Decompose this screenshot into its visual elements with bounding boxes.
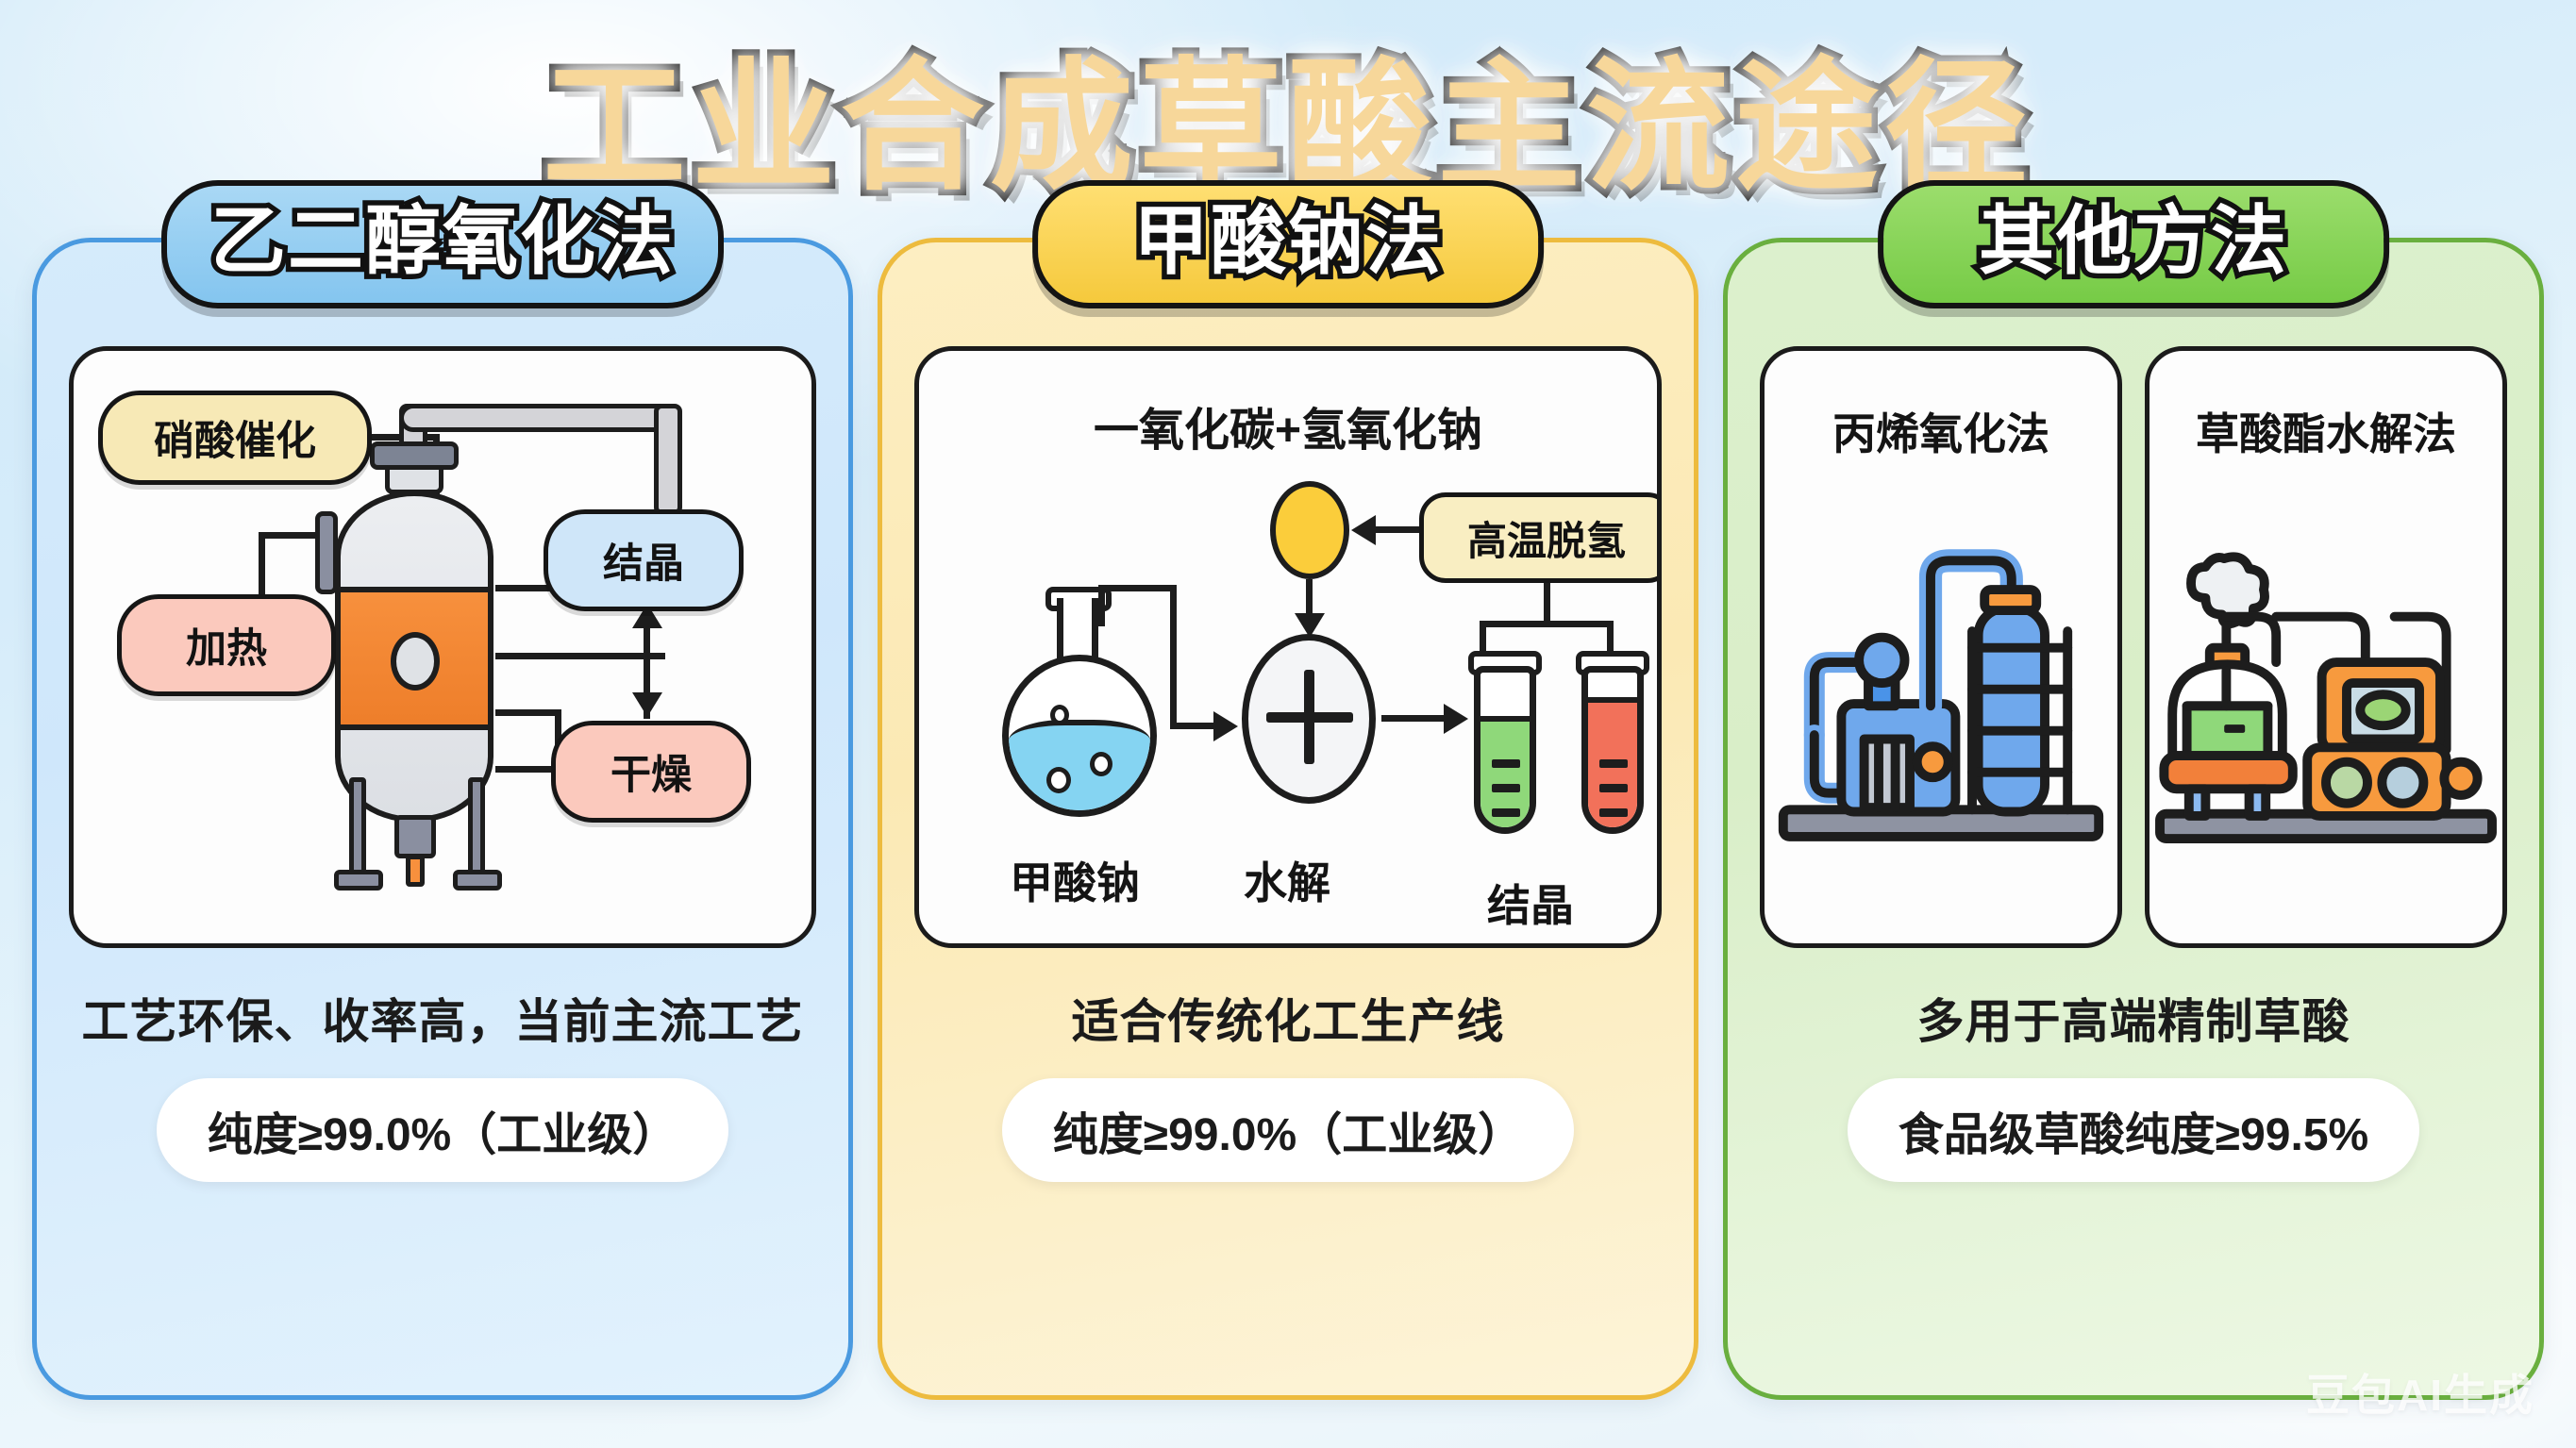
- flask-bubble-2: [1046, 767, 1071, 793]
- tag-crystallization-label: 结晶: [603, 531, 684, 590]
- tag-high-temp-dehydrogenation[interactable]: 高温脱氢: [1419, 492, 1662, 583]
- flask-neck: [1057, 598, 1098, 660]
- line-hydrolysis-to-tubes: [1381, 715, 1451, 722]
- line-dehydro-down: [1544, 583, 1550, 621]
- subcard-oxalate-ester-hydrolysis[interactable]: 草酸酯水解法: [2145, 346, 2507, 948]
- arrow-hydrolysis-to-tubes: [1444, 704, 1468, 734]
- arrow-flask-to-hydrolysis: [1213, 711, 1238, 741]
- panel-note-1: 工艺环保、收率高，当前主流工艺: [82, 984, 804, 1052]
- pipe-dry-feed-top: [495, 709, 561, 716]
- test-tube-green-mark-3: [1492, 808, 1520, 817]
- subcard-title-propylene: 丙烯氧化法: [1832, 400, 2049, 462]
- purity-badge-3: 食品级草酸纯度≥99.5%: [1848, 1078, 2419, 1182]
- tag-nitric-catalysis[interactable]: 硝酸催化: [98, 391, 372, 485]
- diagram-card-sodium-formate: 一氧化碳+氢氧化钠 高温脱氢: [914, 346, 1662, 948]
- purity-badge-1: 纯度≥99.0%（工业级）: [157, 1078, 728, 1182]
- test-tube-green-icon: [1474, 666, 1536, 834]
- tag-crystallization[interactable]: 结晶: [544, 509, 744, 611]
- tag-dehydro-label: 高温脱氢: [1467, 509, 1626, 567]
- test-tube-red-mark-1: [1599, 759, 1628, 768]
- flask-liquid: [1009, 720, 1150, 810]
- reactor-viewport-icon: [391, 632, 440, 691]
- tag-drying-label: 干燥: [611, 742, 692, 801]
- arrow-to-drying: [632, 692, 662, 717]
- reactor-leg-left: [349, 777, 366, 877]
- test-tube-red-mark-3: [1599, 808, 1628, 817]
- test-tube-green-mark-1: [1492, 759, 1520, 768]
- tag-nitric-catalysis-label: 硝酸催化: [154, 408, 316, 467]
- test-tube-green-mark-2: [1492, 784, 1520, 792]
- test-tube-red-mark-2: [1599, 784, 1628, 792]
- panel-header-label-2: 甲酸钠法: [1081, 201, 1495, 282]
- label-hydrolysis: 水解: [1244, 849, 1330, 911]
- reactor-drain-valve-icon: [394, 815, 436, 858]
- tag-heating[interactable]: 加热: [117, 594, 336, 696]
- tag-drying[interactable]: 干燥: [551, 721, 751, 823]
- arrow-dehydro-line: [1374, 526, 1419, 533]
- flask-bubble-1: [1050, 705, 1069, 725]
- reactor-foot-right: [453, 870, 502, 890]
- panel-other-methods[interactable]: 其他方法 丙烯氧化法: [1723, 238, 2544, 1400]
- reactor-leg-right: [468, 777, 485, 877]
- chemical-plant-icon: [1765, 462, 2117, 943]
- panel-note-3: 多用于高端精制草酸: [1917, 984, 2350, 1052]
- overhead-pipe-vertical-right: [654, 404, 682, 515]
- label-sodium-formate: 甲酸钠: [1010, 849, 1140, 911]
- arrow-dehydro-head: [1351, 515, 1376, 545]
- line-tube-bridge: [1480, 621, 1614, 627]
- panel-header-badge-3: 其他方法: [1878, 180, 2389, 308]
- method-panels: 乙二醇氧化法: [32, 238, 2544, 1400]
- overhead-pipe-horizontal: [399, 404, 682, 432]
- flask-sodium-formate-icon: [1002, 655, 1157, 817]
- diagram-card-ethylene-glycol: 硝酸催化 加热 结晶 干燥: [69, 346, 816, 948]
- test-tube-red-icon: [1581, 666, 1644, 834]
- reactor-drain-spout: [406, 855, 425, 887]
- subcard-title-oxalate-ester: 草酸酯水解法: [2196, 400, 2456, 462]
- flask-outlet-v2: [1170, 585, 1177, 728]
- flask-bubble-3: [1090, 752, 1112, 776]
- watermark: 豆包AI生成: [2306, 1361, 2534, 1423]
- reactor-foot-left: [334, 870, 383, 890]
- lab-reactor-icon: [2149, 462, 2502, 943]
- panel-note-2: 适合传统化工生产线: [1072, 984, 1505, 1052]
- purity-badge-2: 纯度≥99.0%（工业级）: [1002, 1078, 1574, 1182]
- reactor-inlet-tube: [315, 511, 338, 594]
- panel-ethylene-glycol-oxidation[interactable]: 乙二醇氧化法: [32, 238, 853, 1400]
- tag-heating-label: 加热: [186, 616, 267, 674]
- reaction-equation: 一氧化碳+氢氧化钠: [919, 392, 1657, 458]
- panel-header-badge-1: 乙二醇氧化法: [161, 180, 724, 308]
- label-crystallization: 结晶: [1487, 872, 1574, 934]
- panel-header-label-3: 其他方法: [1927, 201, 2340, 282]
- subcard-row: 丙烯氧化法: [1760, 346, 2507, 948]
- flask-outlet-h1: [1098, 585, 1176, 591]
- pipe-vessel-to-dry-h: [495, 653, 665, 659]
- panel-sodium-formate[interactable]: 甲酸钠法 一氧化碳+氢氧化钠 高温脱氢: [878, 238, 1698, 1400]
- panel-header-label-1: 乙二醇氧化法: [210, 201, 675, 282]
- pipe-left-top: [259, 532, 321, 539]
- subcard-propylene-oxidation[interactable]: 丙烯氧化法: [1760, 346, 2122, 948]
- plus-icon-vertical: [1304, 670, 1314, 764]
- gas-blob-icon: [1270, 481, 1349, 579]
- reactor-collar: [370, 441, 459, 470]
- panel-header-badge-2: 甲酸钠法: [1032, 180, 1544, 308]
